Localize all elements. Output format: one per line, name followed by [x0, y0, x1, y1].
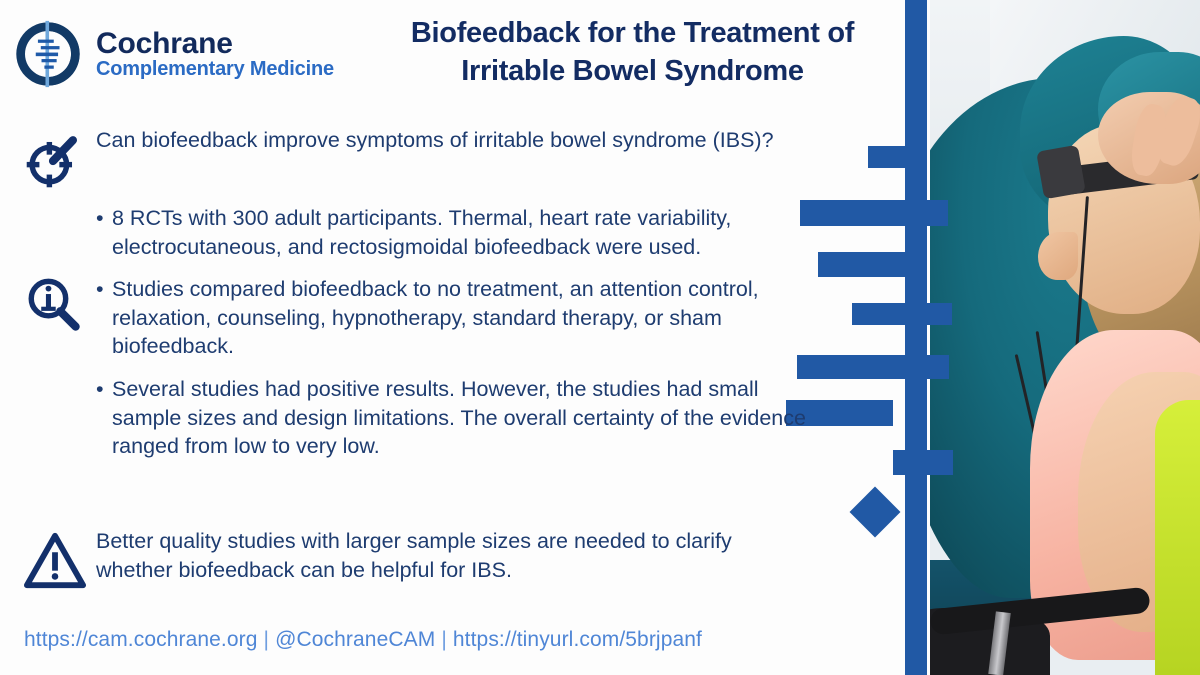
- review-question-row: Can biofeedback improve symptoms of irri…: [24, 126, 814, 195]
- biofeedback-photo: [930, 0, 1200, 675]
- footer-separator: |: [441, 628, 447, 651]
- photo-sensor-module: [1036, 145, 1086, 200]
- page-title-line-1: Biofeedback for the Treatment of: [411, 17, 854, 49]
- target-crosshair-icon: [24, 132, 90, 195]
- finding-text: Studies compared biofeedback to no treat…: [112, 275, 824, 361]
- page-title-line-2: Irritable Bowel Syndrome: [461, 55, 804, 87]
- logo-brand-name: Cochrane: [96, 27, 233, 60]
- finding-text: Several studies had positive results. Ho…: [112, 375, 824, 461]
- bullet-marker: •: [96, 275, 112, 361]
- photo-chair-back: [1155, 400, 1200, 675]
- footer-links: https://cam.cochrane.org|@CochraneCAM|ht…: [24, 628, 702, 652]
- conclusion-text: Better quality studies with larger sampl…: [96, 527, 796, 584]
- logo-group-name: Complementary Medicine: [96, 58, 334, 80]
- footer-separator: |: [264, 628, 270, 651]
- warning-triangle-icon: [24, 529, 96, 596]
- bullet-marker: •: [96, 375, 112, 461]
- list-item: • Studies compared biofeedback to no tre…: [24, 275, 824, 361]
- forest-plot-bar: [818, 252, 924, 277]
- logo-wordmark: Cochrane Complementary Medicine: [96, 29, 334, 79]
- bullet-marker: •: [96, 204, 112, 261]
- magnifier-info-icon: [24, 275, 96, 338]
- photo-patient-face: [1038, 232, 1078, 280]
- list-item: • Several studies had positive results. …: [24, 375, 824, 461]
- website-link[interactable]: https://cam.cochrane.org: [24, 628, 258, 651]
- forest-plot-axis-line: [905, 0, 927, 675]
- social-handle-link[interactable]: @CochraneCAM: [275, 628, 435, 651]
- forest-plot-bar: [868, 146, 910, 168]
- list-item: • 8 RCTs with 300 adult participants. Th…: [24, 204, 824, 261]
- cochrane-forest-plot-logo-icon: [12, 18, 84, 90]
- conclusion-row: Better quality studies with larger sampl…: [24, 527, 824, 596]
- key-findings-list: • 8 RCTs with 300 adult participants. Th…: [24, 204, 824, 467]
- review-question-text: Can biofeedback improve symptoms of irri…: [96, 126, 796, 155]
- finding-text: 8 RCTs with 300 adult participants. Ther…: [112, 204, 824, 261]
- infographic-canvas: Cochrane Complementary Medicine Biofeedb…: [0, 0, 1200, 675]
- forest-plot-summary-diamond: [850, 487, 901, 538]
- shortlink[interactable]: https://tinyurl.com/5brjpanf: [453, 628, 702, 651]
- cochrane-logo[interactable]: Cochrane Complementary Medicine: [12, 18, 334, 90]
- page-title: Biofeedback for the Treatment of Irritab…: [360, 14, 905, 91]
